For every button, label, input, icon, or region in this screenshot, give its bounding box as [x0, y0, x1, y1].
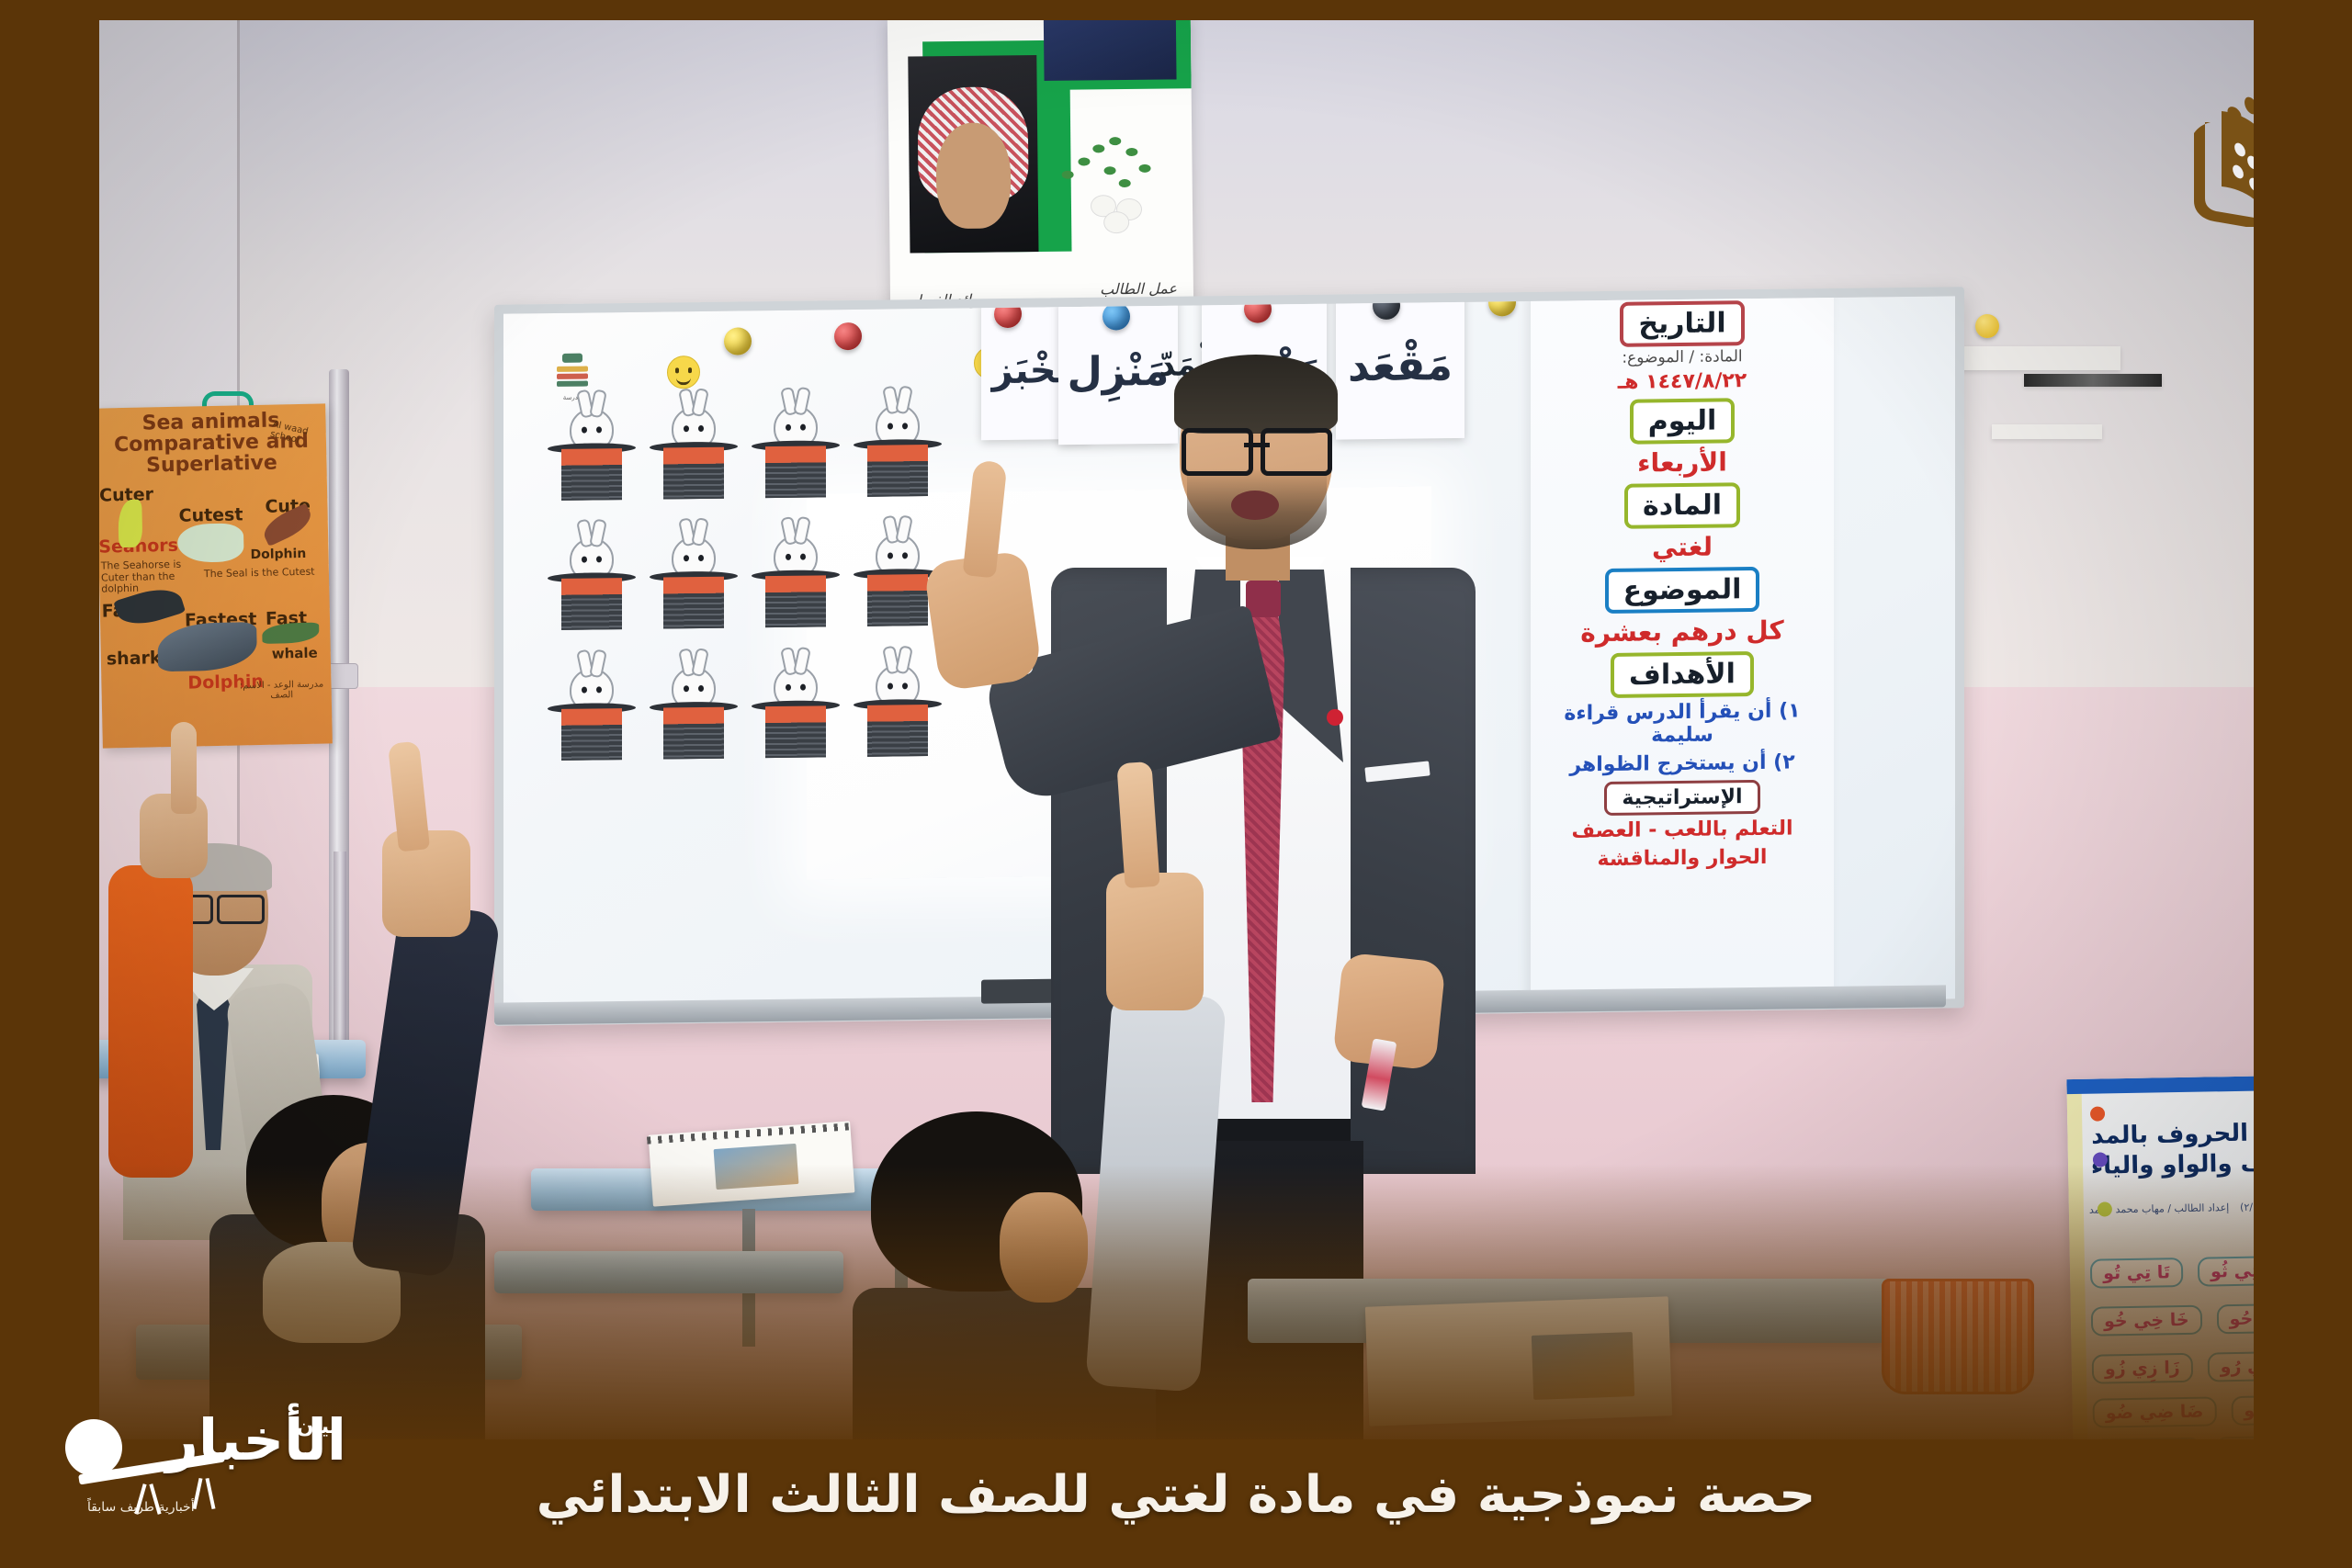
hair — [1174, 355, 1338, 434]
bunny-hat-item — [746, 531, 844, 659]
bunny-hat-item — [848, 400, 946, 528]
smiley-sticker-1 — [667, 355, 700, 389]
letters-sub-left: الصف الثاني (٢/١) — [2240, 1200, 2254, 1213]
royal-portrait-right — [1044, 20, 1177, 81]
textbook-picture — [1532, 1332, 1634, 1400]
leaf — [1104, 166, 1116, 175]
plan-value-day: الأربعاء — [1543, 446, 1821, 479]
plan-strategy-2: الحوار والمناقشة — [1543, 845, 1821, 872]
sea-sentence-2: The Seal is the Cutest — [204, 566, 323, 581]
bunny-hat-item — [746, 401, 844, 529]
leaf — [1092, 144, 1104, 152]
plan-label-strategy: الإستراتيجية — [1604, 780, 1759, 816]
orange-sleeve-arm — [108, 865, 193, 1178]
letters-chip: خَا خِي خُو — [2091, 1305, 2202, 1337]
satellite-dish-icon — [65, 1419, 122, 1476]
plan-label-subject: المادة — [1624, 482, 1740, 529]
student-center-hand — [1106, 873, 1204, 1010]
sea-word-shark: shark — [107, 648, 162, 669]
plan-value-topic: كل درهم بعشرة — [1543, 615, 1821, 649]
dolphin-shape-2 — [157, 622, 257, 671]
news-logo-tagline: أخبارية طريف سابقاً — [87, 1500, 195, 1515]
letters-row: رَا رِي رُو زَا زِي زُو — [2092, 1351, 2254, 1384]
caption-text: حصة نموذجية في مادة لغتي للصف الثالث الا… — [537, 1465, 1816, 1525]
letters-row: ثَا ثِي ثُو تَا تِي تُو — [2090, 1256, 2254, 1289]
eyeglasses-icon — [1182, 428, 1332, 468]
lesson-plan-sheet: التاريخ المادة: / الموضوع: ١٤٤٧/٨/٢٢ هـ … — [1531, 290, 1834, 1003]
royal-handwriting-right-1: عمل الطالب — [1100, 279, 1177, 298]
notebook-picture — [714, 1144, 799, 1190]
bunny-hat-item — [542, 663, 640, 791]
royal-portrait-left — [908, 55, 1038, 253]
leaf — [1119, 179, 1131, 187]
leaf — [1125, 148, 1137, 156]
letters-chip: تَا تِي تُو — [2090, 1258, 2183, 1289]
student-left — [209, 1077, 687, 1439]
leaf — [1062, 171, 1074, 179]
wall-scrap-dark — [2024, 374, 2162, 387]
plan-label-topic: الموضوع — [1605, 567, 1760, 614]
news-logo-small-word: بيان — [297, 1416, 337, 1438]
news-outlet-logo: الأخبار بيان أخبارية طريف سابقاً — [51, 1410, 354, 1548]
poster-arabic-letters: لوحة الحروف بالمد بالألف والواو والياء ا… — [2066, 1074, 2254, 1439]
plan-objective-2: ٢) أن يستخرج الظواهر — [1543, 750, 1821, 777]
bunny-hat-grid — [542, 400, 946, 791]
leaf — [1139, 164, 1151, 173]
student-center-face — [1000, 1192, 1088, 1303]
magnet-red-3 — [834, 322, 862, 350]
bunny-hat-item — [542, 534, 640, 661]
lapel-pin — [1327, 709, 1343, 726]
wall-scrap-1 — [1955, 346, 2120, 370]
plan-label-date: التاريخ — [1620, 300, 1744, 347]
letters-row: صَا صِي صُو ضَا ضِي ضُو — [2092, 1394, 2254, 1428]
bunny-hat-item — [542, 404, 640, 532]
letters-chip: زَا زِي زُو — [2092, 1353, 2193, 1384]
flower-icon — [2089, 1200, 2121, 1232]
poster-sea-animals: Sea animals Comparative and Superlative … — [99, 403, 333, 748]
magnet-yellow-1 — [1488, 288, 1516, 316]
student-center — [889, 1104, 1367, 1439]
plan-value-date: ١٤٤٧/٨/٢٢ هـ — [1543, 368, 1821, 395]
sea-arabic-note: مدرسة الوعد - الاسم: الصف — [239, 680, 323, 702]
plan-label-day: اليوم — [1630, 398, 1736, 444]
bunny-hat-item — [848, 660, 946, 787]
plan-label-objectives: الأهداف — [1611, 651, 1754, 698]
letters-chip: ثَا ثِي ثُو — [2198, 1256, 2254, 1287]
flower-icon — [2082, 1104, 2114, 1136]
sea-word-dolphin-1: Dolphin — [250, 547, 306, 562]
bunny-hat-item — [746, 661, 844, 789]
letters-chip: صَا صِي صُو — [2231, 1394, 2254, 1426]
portrait-face — [935, 122, 1011, 229]
plan-value-subject: لغتي — [1543, 530, 1821, 564]
seal-shape — [177, 523, 244, 562]
blossom — [1104, 212, 1128, 232]
news-photo: Sea animals Comparative and Superlative … — [99, 20, 2254, 1439]
mouth — [1231, 491, 1279, 520]
open-book-with-hands-logo-icon — [2174, 71, 2254, 227]
sea-word-whale: whale — [272, 645, 318, 662]
leaf — [1078, 157, 1090, 165]
leaf — [1109, 137, 1121, 145]
letters-chip: رَا رِي رُو — [2207, 1351, 2254, 1382]
magnet-yellow-2 — [724, 327, 752, 355]
seahorse-shape — [118, 500, 142, 548]
plan-strategy-1: التعلم باللعب - العصف — [1543, 817, 1821, 843]
tripod-leg — [206, 1478, 216, 1509]
letters-chip: حَا حِي حُو — [2216, 1303, 2254, 1334]
wall-scrap-2 — [1992, 424, 2102, 439]
plan-objective-1: ١) أن يقرأ الدرس قراءة سليمة — [1543, 699, 1821, 749]
screenshot-root: Sea animals Comparative and Superlative … — [0, 0, 2352, 1568]
bunny-hat-item — [644, 402, 742, 530]
letters-row: حَا حِي حُو خَا خِي خُو — [2091, 1303, 2254, 1336]
letters-chip: ضَا ضِي ضُو — [2092, 1396, 2216, 1427]
plan-extra-note: المادة: / الموضوع: — [1543, 346, 1821, 368]
waste-basket — [1882, 1279, 2034, 1394]
necktie-knot — [1246, 581, 1281, 617]
orange-kid-finger — [171, 722, 197, 814]
flower-icon — [2085, 1150, 2117, 1182]
bunny-hat-item — [644, 533, 742, 660]
decor-plant — [1050, 123, 1174, 234]
sea-word-seahorse: Seahorse — [99, 536, 190, 558]
pushpin-yellow — [1975, 314, 1999, 338]
bunny-hat-item — [644, 662, 742, 790]
